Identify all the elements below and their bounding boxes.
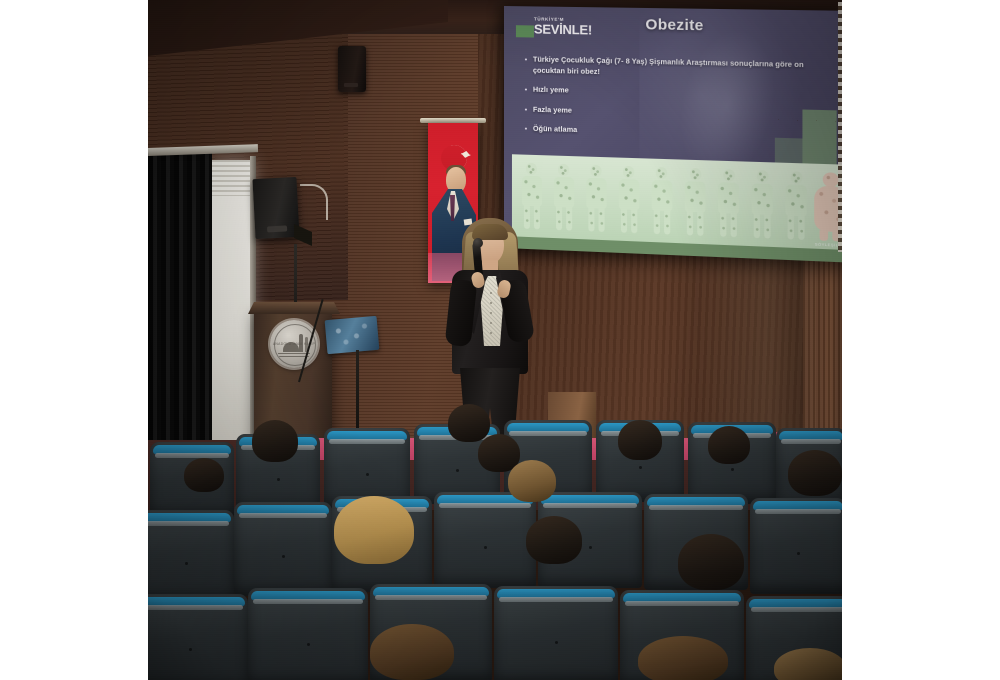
audience-member-head [448, 404, 490, 442]
slide-bullet-list: Türkiye Çocukluk Çağı (7- 8 Yaş) Şişmanl… [524, 54, 835, 152]
audience-member-head [526, 516, 582, 564]
audience-member-head [774, 648, 842, 680]
audience-member-head [370, 624, 454, 680]
music-stand-plate [325, 316, 380, 354]
pictogram-figure [548, 161, 579, 233]
list-item: Fazla yeme [524, 104, 835, 123]
pictogram-figure [746, 168, 779, 241]
pictogram-figure [580, 162, 612, 234]
audience-member-head [252, 420, 298, 462]
window-blind [210, 160, 252, 196]
audience-member-head [618, 420, 662, 460]
audience-member-head [708, 426, 750, 464]
auditorium-seat [434, 492, 536, 588]
presentation-slide: TÜRKİYE'M SEVİNLE! Obezite Türkiye Çocuk… [504, 6, 842, 263]
pictogram-figure [646, 165, 678, 237]
pa-speaker-icon [252, 177, 299, 239]
speaker-cable [300, 184, 328, 220]
podium-top [248, 302, 340, 314]
auditorium-seat [248, 588, 368, 680]
audience-member-head [508, 460, 556, 502]
screen-right-edge [838, 2, 842, 252]
screenshot-root: ANADOLU İMAM HATİP LİSESİ [0, 0, 1000, 680]
audience-member-head [334, 496, 414, 564]
list-item: Hızlı yeme [524, 84, 835, 102]
pictogram-figure [613, 163, 645, 235]
audience-member-head [638, 636, 728, 680]
pictogram-figures [516, 158, 842, 243]
audience-member-head [184, 458, 224, 492]
auditorium-seat [148, 510, 234, 602]
audience-member-head [678, 534, 744, 590]
wall-speaker-icon [338, 46, 366, 92]
audience-member-head [788, 450, 842, 496]
pictogram-figure [712, 167, 745, 240]
list-item: Türkiye Çocukluk Çağı (7- 8 Yaş) Şişmanl… [524, 54, 835, 82]
list-item: Öğün atlama [524, 124, 835, 143]
auditorium-seat [494, 586, 618, 680]
pictogram-figure [679, 166, 711, 239]
auditorium-seat [750, 498, 842, 594]
star-icon [461, 150, 472, 156]
pictogram-figure [780, 169, 813, 243]
projection-screen: TÜRKİYE'M SEVİNLE! Obezite Türkiye Çocuk… [504, 6, 842, 263]
audience-seating [148, 398, 842, 680]
auditorium-seat [234, 502, 332, 596]
pictogram-band: SÖYLEŞİLER [512, 154, 842, 250]
auditorium-photo: ANADOLU İMAM HATİP LİSESİ [148, 0, 842, 680]
auditorium-seat [148, 594, 248, 680]
